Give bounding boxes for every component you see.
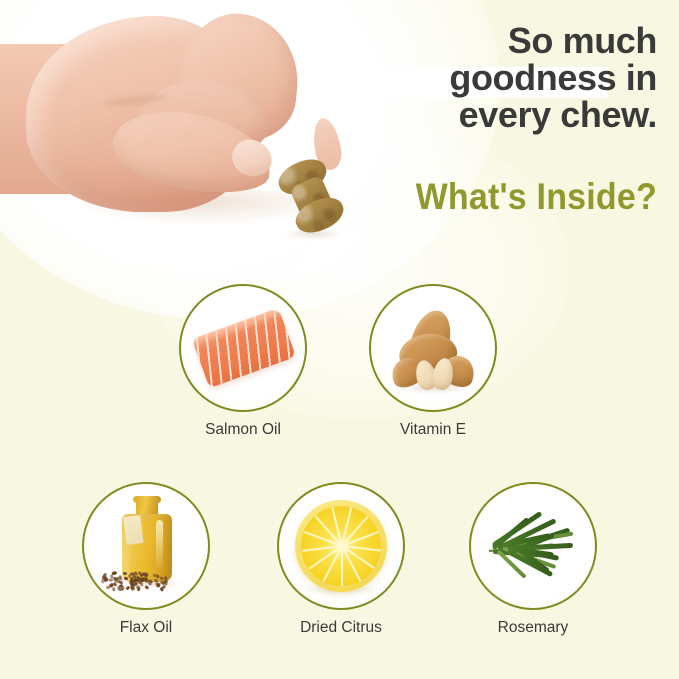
ingredient-label-flax-oil: Flax Oil [82,619,210,637]
flax-seed [124,577,128,580]
flax-seed [132,573,135,577]
rosemary-sprig-icon [479,508,587,584]
ingredient-dried-citrus: Dried Citrus [277,482,405,637]
ingredient-label-salmon-oil: Salmon Oil [179,421,307,439]
flax-seed [140,582,143,586]
flax-seeds-icon [98,568,172,588]
subheading-whats-inside: What's Inside? [289,176,657,218]
ingredient-circle-flax-oil [82,482,210,610]
flax-seed [121,586,125,591]
flax-seed [144,585,149,590]
ingredient-circle-salmon-oil [179,284,307,412]
headline-line-3: every chew. [257,96,657,133]
flax-seed [160,587,164,592]
ingredient-rosemary: Rosemary [469,482,597,637]
flax-seed [113,587,116,591]
ingredient-circle-vitamin-e [369,284,497,412]
flax-seed [137,587,141,592]
ingredient-label-dried-citrus: Dried Citrus [277,619,405,637]
flax-seed [126,586,131,591]
salmon-fillet-icon [192,308,296,388]
headline-line-2: goodness in [257,59,657,96]
ingredient-flax-oil: Flax Oil [82,482,210,637]
ingredient-circle-rosemary [469,482,597,610]
product-infographic: So much goodness in every chew. What's I… [0,0,679,679]
headline: So much goodness in every chew. [257,22,657,133]
ingredient-label-rosemary: Rosemary [469,619,597,637]
headline-line-1: So much [257,22,657,59]
lemon-core [337,542,346,551]
flax-seed [129,583,133,586]
ingredient-circle-dried-citrus [277,482,405,610]
flax-seed [123,572,127,575]
lemon-segment-divider [341,546,343,586]
bottle-label [123,515,143,545]
ingredient-label-vitamin-e: Vitamin E [369,421,497,439]
ingredient-salmon-oil: Salmon Oil [179,284,307,439]
lemon-slice-icon [295,500,387,592]
ingredient-vitamin-e: Vitamin E [369,284,497,439]
bottle-gloss-highlight [156,520,163,568]
flax-seed [131,585,134,589]
